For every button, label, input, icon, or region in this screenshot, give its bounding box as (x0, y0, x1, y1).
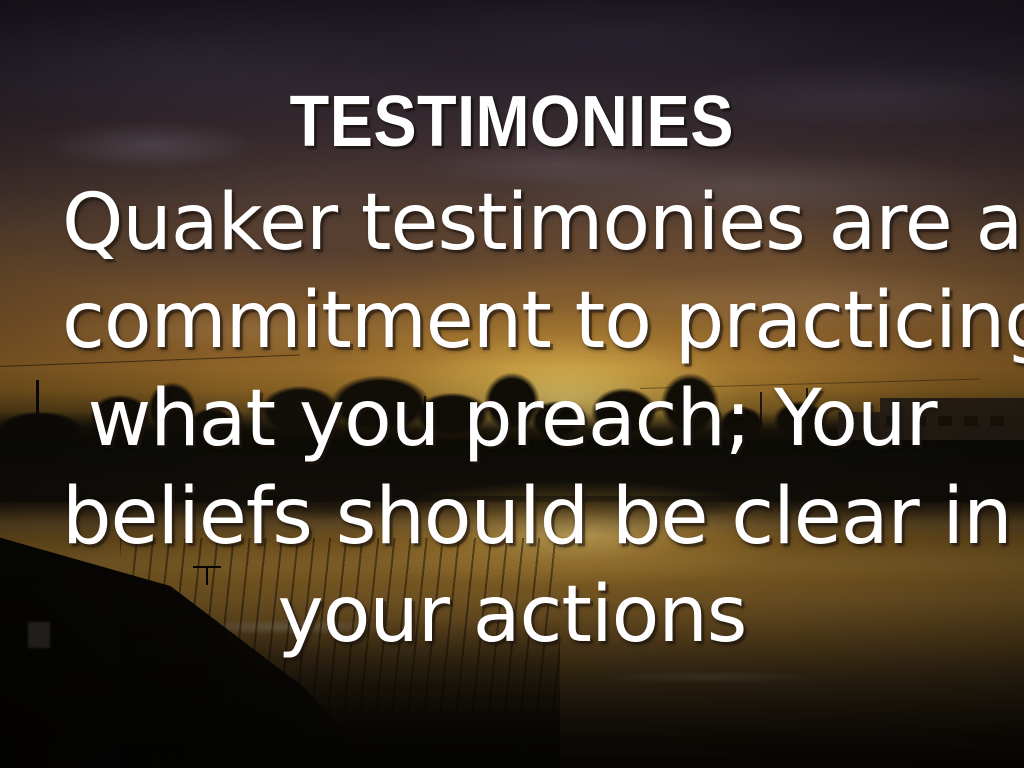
body-line-3: what you preach; Your (62, 370, 962, 468)
body-line-2: commitment to practicing (62, 272, 962, 370)
presentation-slide: TESTIMONIES Quaker testimonies are a com… (0, 0, 1024, 768)
body-line-5: your actions (62, 566, 962, 664)
slide-title: TESTIMONIES (290, 86, 734, 158)
slide-body-text: Quaker testimonies are a commitment to p… (62, 174, 962, 664)
body-line-4: beliefs should be clear in (62, 468, 962, 566)
slide-text-container: TESTIMONIES Quaker testimonies are a com… (0, 0, 1024, 768)
body-line-1: Quaker testimonies are a (62, 174, 962, 272)
